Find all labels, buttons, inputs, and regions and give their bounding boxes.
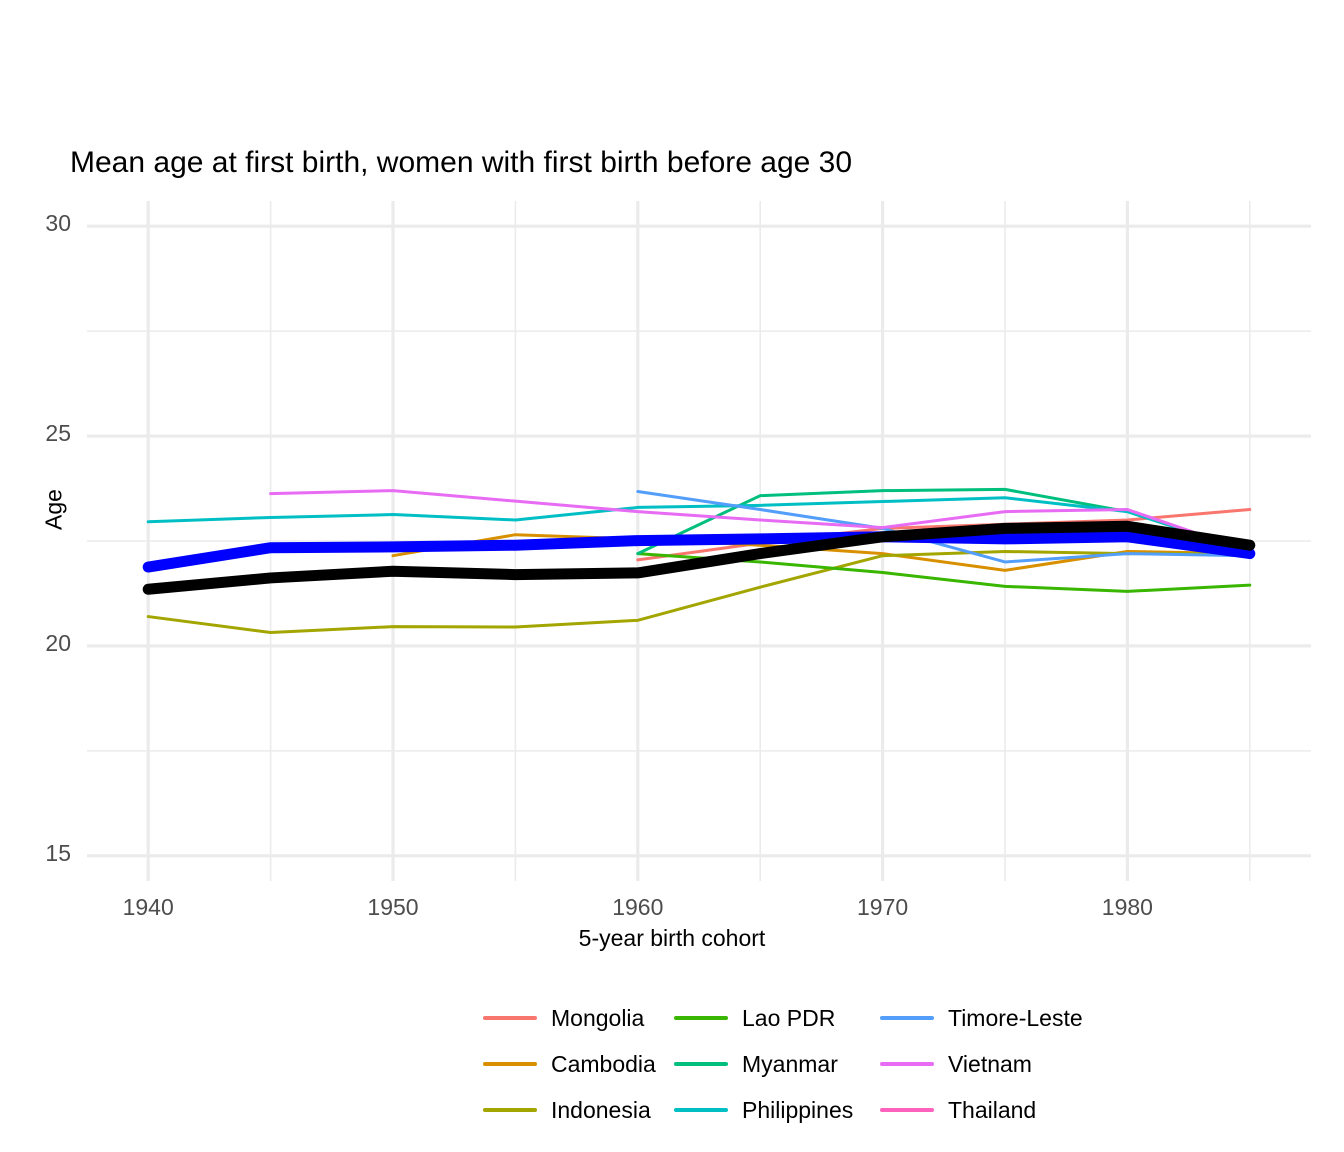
legend-item-vietnam[interactable]: Vietnam	[880, 1041, 1032, 1087]
y-tick-label: 30	[19, 210, 71, 237]
x-axis-title: 5-year birth cohort	[0, 925, 1344, 952]
legend-key-line-icon	[674, 1108, 728, 1112]
legend-key-line-icon	[483, 1108, 537, 1112]
plot-svg	[0, 0, 1344, 1152]
legend-item-timore-leste[interactable]: Timore-Leste	[880, 995, 1083, 1041]
legend-item-label: Mongolia	[551, 1005, 644, 1032]
legend-item-label: Lao PDR	[742, 1005, 835, 1032]
legend-key-line-icon	[674, 1062, 728, 1066]
legend-key-line-icon	[483, 1016, 537, 1020]
y-tick-label: 15	[19, 840, 71, 867]
y-tick-label: 25	[19, 420, 71, 447]
legend-item-label: Myanmar	[742, 1051, 838, 1078]
legend-item-label: Thailand	[948, 1097, 1036, 1124]
legend-item-label: Philippines	[742, 1097, 853, 1124]
legend-key-line-icon	[674, 1016, 728, 1020]
x-tick-label: 1960	[593, 894, 683, 921]
legend-key-line-icon	[483, 1062, 537, 1066]
legend-item-lao-pdr[interactable]: Lao PDR	[674, 995, 835, 1041]
legend-key-line-icon	[880, 1108, 934, 1112]
y-tick-label: 20	[19, 630, 71, 657]
plot-area	[0, 0, 1344, 1152]
legend-key-line-icon	[880, 1016, 934, 1020]
legend-item-philippines[interactable]: Philippines	[674, 1087, 853, 1133]
x-tick-label: 1980	[1082, 894, 1172, 921]
legend-item-myanmar[interactable]: Myanmar	[674, 1041, 838, 1087]
legend-item-label: Indonesia	[551, 1097, 651, 1124]
legend-item-label: Timore-Leste	[948, 1005, 1083, 1032]
x-tick-label: 1950	[348, 894, 438, 921]
y-axis-title: Age	[41, 450, 68, 570]
legend-item-label: Cambodia	[551, 1051, 656, 1078]
legend-item-thailand[interactable]: Thailand	[880, 1087, 1036, 1133]
x-tick-label: 1940	[103, 894, 193, 921]
legend-key-line-icon	[880, 1062, 934, 1066]
legend-item-mongolia[interactable]: Mongolia	[483, 995, 644, 1041]
chart-page: Mean age at first birth, women with firs…	[0, 0, 1344, 1152]
x-tick-label: 1970	[838, 894, 928, 921]
legend-item-label: Vietnam	[948, 1051, 1032, 1078]
legend-item-indonesia[interactable]: Indonesia	[483, 1087, 651, 1133]
legend-item-cambodia[interactable]: Cambodia	[483, 1041, 656, 1087]
